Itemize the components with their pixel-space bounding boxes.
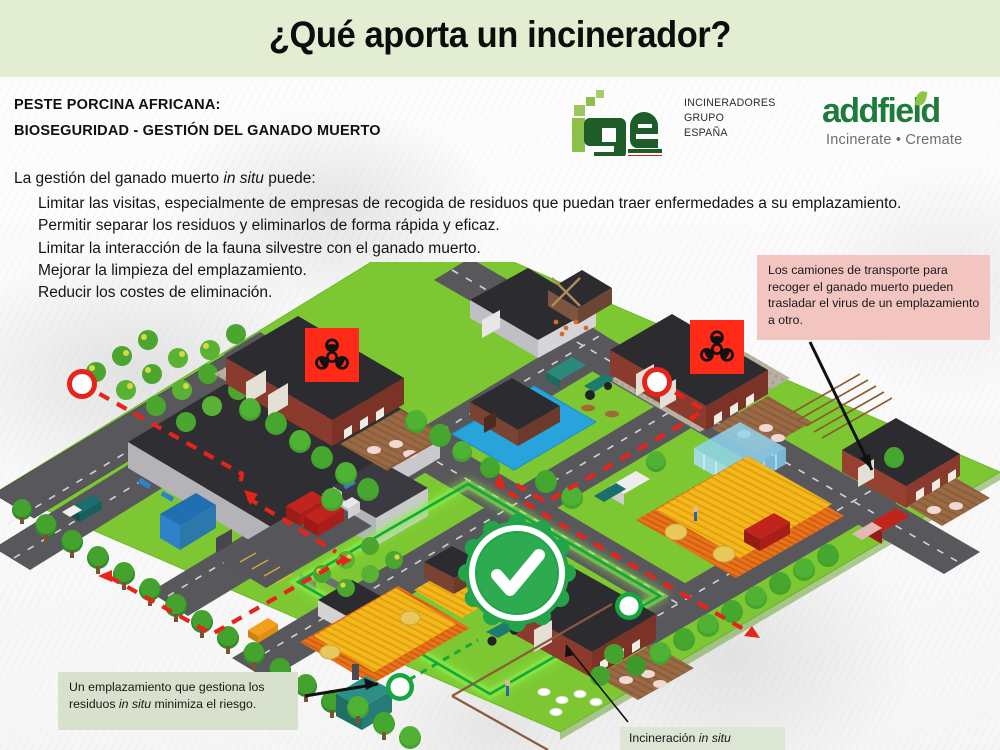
- addfield-wordmark: addfield: [822, 92, 993, 131]
- ige-tagline-line-1: INCINERADORES: [684, 96, 776, 111]
- biohazard-icon-right: [690, 320, 744, 374]
- addfield-logo: addfield Incinerate • Cremate: [820, 92, 995, 154]
- intro-suffix: puede:: [264, 170, 316, 187]
- callout-truck-risk: Los camiones de transporte para recoger …: [757, 255, 990, 340]
- ige-logo-tagline: INCINERADORES GRUPO ESPAÑA: [684, 96, 776, 141]
- risk-pin-right: [642, 367, 672, 397]
- intro-italic: in situ: [223, 170, 264, 187]
- callout-onsite-italic: in situ: [119, 697, 151, 711]
- intro-line: La gestión del ganado muerto in situ pue…: [14, 170, 316, 188]
- subtitle-block: PESTE PORCINA AFRICANA: BIOSEGURIDAD - G…: [14, 92, 574, 144]
- safe-pin-barn: [615, 592, 643, 620]
- ige-tagline-line-2: GRUPO: [684, 111, 776, 126]
- ige-tagline-line-3: ESPAÑA: [684, 126, 776, 141]
- callout-incineration-label: Incineración in situ: [620, 727, 785, 750]
- slide-canvas: ¿Qué aporta un incinerador? PESTE PORCIN…: [0, 0, 1000, 750]
- safe-pin-incinerator: [386, 673, 414, 701]
- incineration-prefix: Incineración: [629, 731, 699, 745]
- list-item: Limitar las visitas, especialmente de em…: [38, 193, 998, 215]
- callout-onsite-suffix: minimiza el riesgo.: [151, 697, 256, 711]
- subtitle-line-1: PESTE PORCINA AFRICANA:: [14, 92, 574, 118]
- subtitle-line-2: BIOSEGURIDAD - GESTIÓN DEL GANADO MUERTO: [14, 118, 574, 144]
- biohazard-icon-left: [305, 328, 359, 382]
- incineration-italic: in situ: [699, 731, 731, 745]
- page-title: ¿Qué aporta un incinerador?: [35, 14, 965, 56]
- list-item: Permitir separar los residuos y eliminar…: [38, 215, 998, 237]
- intro-prefix: La gestión del ganado muerto: [14, 170, 223, 187]
- callout-onsite-benefit: Un emplazamiento que gestiona los residu…: [58, 672, 298, 730]
- risk-pin-left: [67, 369, 97, 399]
- addfield-tagline: Incinerate • Cremate: [826, 132, 962, 148]
